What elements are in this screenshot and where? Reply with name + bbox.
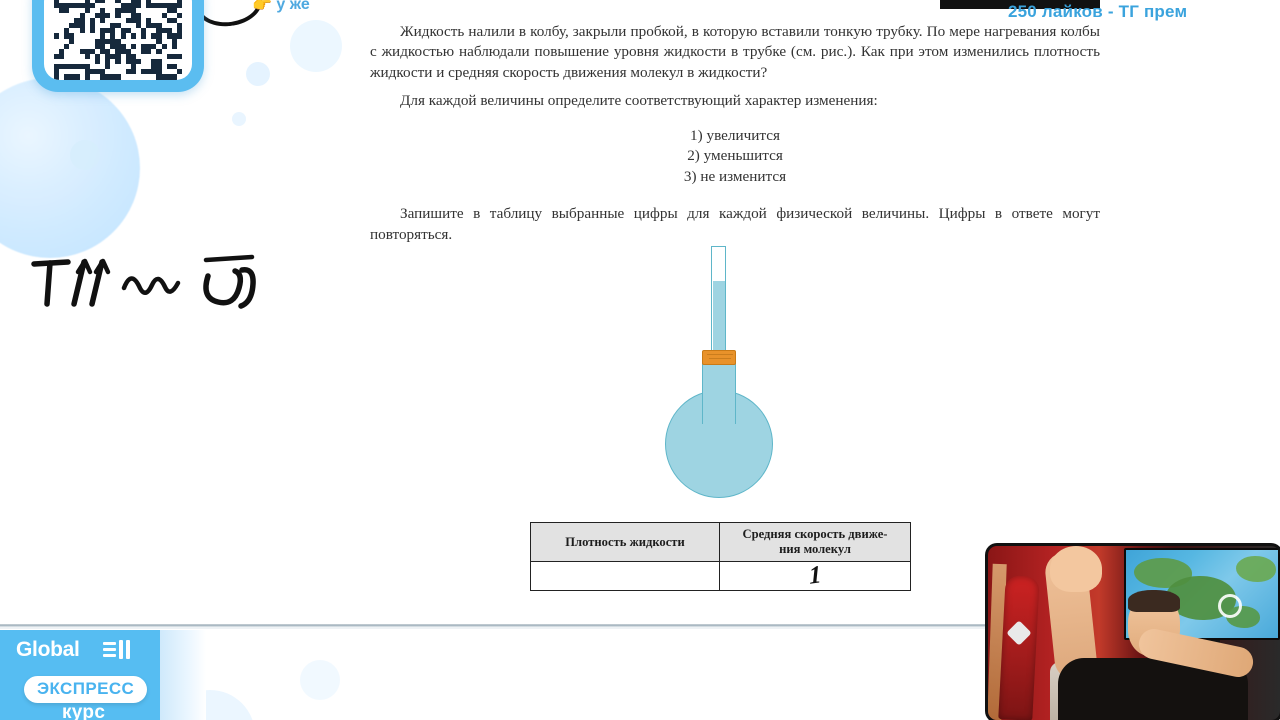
pointer-emoji-icon: 👉 bbox=[252, 0, 272, 13]
task-options-inner: 1) увеличится 2) уменьшится 3) не измени… bbox=[684, 126, 786, 188]
cork-grain bbox=[709, 358, 731, 359]
decor-bubble bbox=[232, 112, 246, 126]
top-cut-caption-text: у же bbox=[276, 0, 309, 13]
top-cut-caption: 👉 у же bbox=[252, 0, 310, 14]
task-paragraph-2: Для каждой величины определите соответст… bbox=[370, 91, 1100, 111]
brand-badge-label: ЭКСПРЕСС bbox=[37, 679, 134, 698]
task-option-1: 1) увеличится bbox=[684, 126, 786, 147]
answer-value-speed: 1 bbox=[808, 561, 822, 591]
webcam-person-hand bbox=[1050, 546, 1102, 592]
brand-logo-icon bbox=[103, 640, 131, 660]
answer-cell-speed[interactable]: 1 bbox=[720, 562, 911, 591]
table-row: 1 bbox=[531, 562, 911, 591]
decor-bubble bbox=[70, 140, 100, 170]
decor-bubble bbox=[290, 20, 342, 72]
screen-root: 250 лайков - ТГ прем 👉 у же Жидкость нал… bbox=[0, 0, 1280, 720]
answer-cell-density[interactable] bbox=[531, 562, 720, 591]
table-header-speed-line2: ния молекул bbox=[720, 542, 910, 557]
flask-neck-fill bbox=[704, 410, 735, 432]
tv-map-island bbox=[1236, 556, 1276, 582]
brand-name: Global bbox=[16, 638, 80, 662]
brand-badge: ЭКСПРЕСС bbox=[24, 676, 147, 703]
flask-figure bbox=[640, 240, 800, 510]
decor-bubble bbox=[0, 78, 140, 258]
cork-stopper-icon bbox=[702, 350, 736, 365]
table-header-speed-line1: Средняя скорость движе- bbox=[720, 527, 910, 542]
table-header-speed: Средняя скорость движе- ния молекул bbox=[720, 523, 911, 562]
qr-code-icon bbox=[54, 0, 182, 76]
brand-fade-decor bbox=[160, 630, 206, 720]
qr-card-inner bbox=[44, 0, 192, 80]
task-option-3: 3) не изменится bbox=[684, 167, 786, 188]
handwriting-svg bbox=[28, 248, 288, 318]
qr-card[interactable] bbox=[32, 0, 204, 92]
task-paragraph-1: Жидкость налили в колбу, закрыли пробкой… bbox=[370, 22, 1100, 83]
task-option-2: 2) уменьшится bbox=[684, 146, 786, 167]
decor-bubble bbox=[300, 660, 340, 700]
decor-bubble bbox=[246, 62, 270, 86]
capillary-tube-liquid bbox=[713, 281, 725, 359]
task-document: Жидкость налили в колбу, закрыли пробкой… bbox=[370, 22, 1100, 245]
cork-grain bbox=[707, 354, 733, 355]
tv-map-ring bbox=[1218, 594, 1242, 618]
table-header-row: Плотность жидкости Средняя скорость движ… bbox=[531, 523, 911, 562]
handwriting-annotation bbox=[28, 248, 288, 318]
webcam-person-hair bbox=[1128, 590, 1180, 612]
presenter-webcam[interactable] bbox=[988, 546, 1280, 720]
table-header-density: Плотность жидкости bbox=[531, 523, 720, 562]
brand-subtitle: курс bbox=[62, 702, 105, 720]
task-options-list: 1) увеличится 2) уменьшится 3) не измени… bbox=[370, 126, 1100, 188]
answer-table: Плотность жидкости Средняя скорость движ… bbox=[530, 522, 911, 591]
top-banner-text: 250 лайков - ТГ прем bbox=[1008, 2, 1187, 22]
